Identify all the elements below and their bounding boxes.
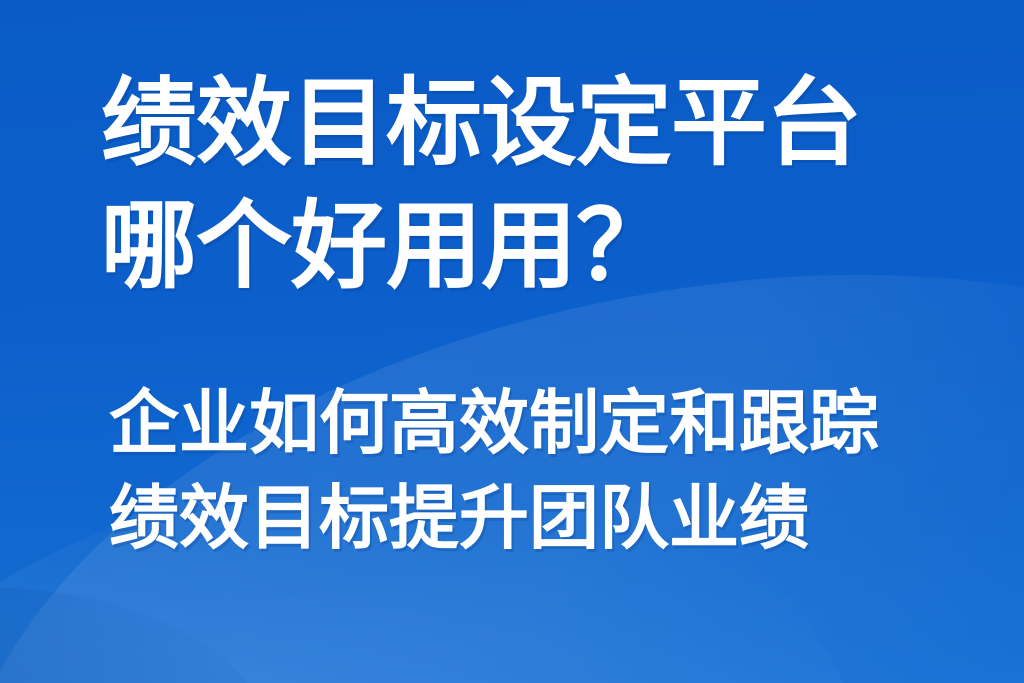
subheadline-text: 企业如何高效制定和跟踪绩效目标提升团队业绩 — [109, 376, 932, 566]
headline-title: 绩效目标设定平台哪个好用用？ — [101, 62, 932, 308]
poster-content: 绩效目标设定平台哪个好用用？ 企业如何高效制定和跟踪绩效目标提升团队业绩 — [0, 0, 1024, 683]
poster-canvas: 绩效目标设定平台哪个好用用？ 企业如何高效制定和跟踪绩效目标提升团队业绩 — [0, 0, 1024, 683]
